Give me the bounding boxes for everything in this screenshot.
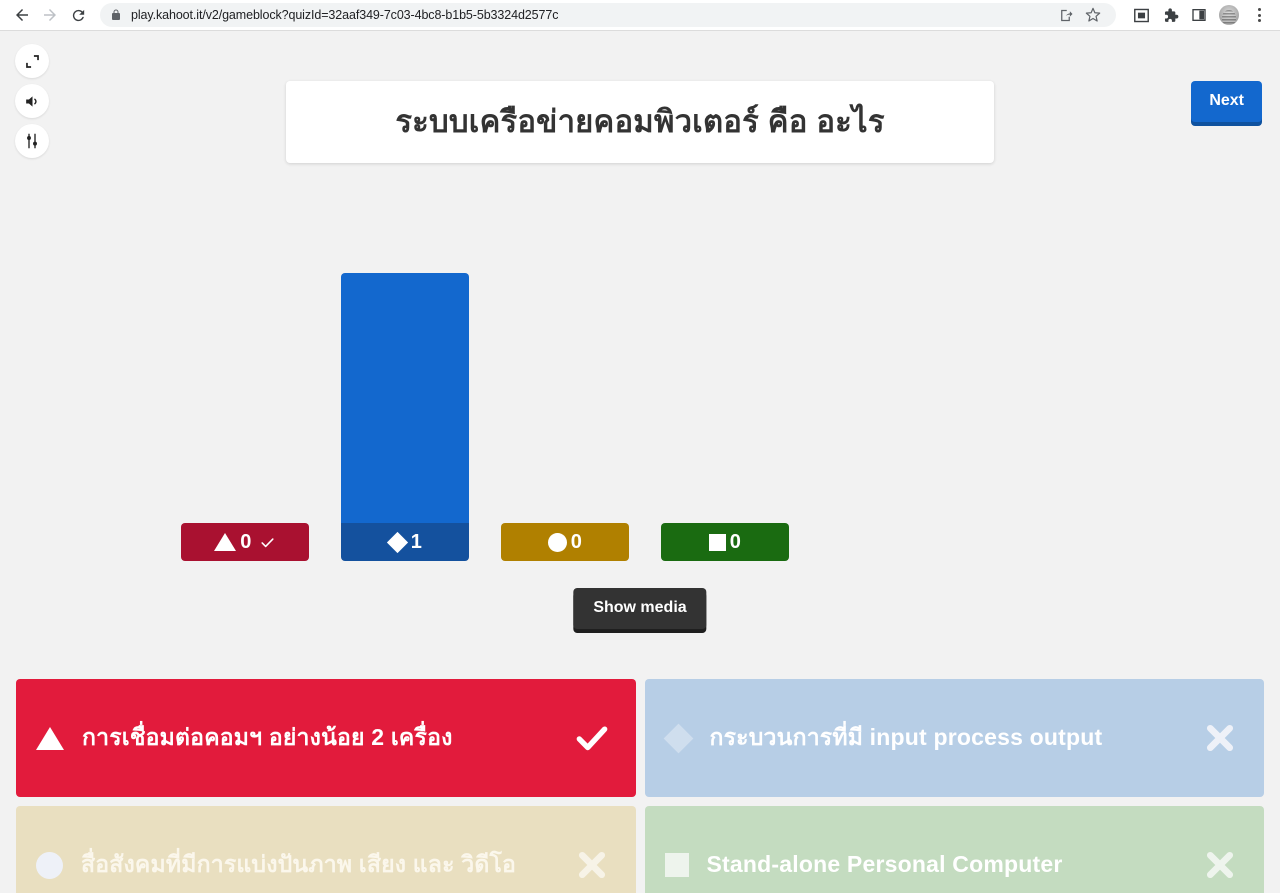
avatar[interactable] bbox=[1219, 5, 1239, 25]
reload-button[interactable] bbox=[64, 1, 92, 29]
back-button[interactable] bbox=[8, 1, 36, 29]
chart-bar-value: 0 bbox=[571, 531, 583, 554]
browser-menu-button[interactable] bbox=[1246, 2, 1272, 28]
lock-icon bbox=[110, 9, 122, 21]
address-bar[interactable]: play.kahoot.it/v2/gameblock?quizId=32aaf… bbox=[100, 3, 1116, 27]
triangle-icon bbox=[36, 727, 64, 750]
cast-icon bbox=[1133, 7, 1150, 24]
square-icon bbox=[665, 853, 689, 877]
forward-arrow-icon bbox=[41, 6, 59, 24]
chart-bar-foot: 1 bbox=[341, 523, 469, 561]
sliders-icon bbox=[23, 132, 41, 150]
share-icon bbox=[1058, 8, 1073, 23]
kahoot-gameblock-page: ระบบเครือข่ายคอมพิวเตอร์ คือ อะไร Next 0 bbox=[0, 31, 1280, 893]
answer-text: สื่อสังคมที่มีการแบ่งปันภาพ เสียง และ วิ… bbox=[81, 848, 552, 881]
chart-bar-diamond: 1 bbox=[341, 273, 469, 561]
answer-text: การเชื่อมต่อคอมฯ อย่างน้อย 2 เครื่อง bbox=[82, 721, 552, 754]
puzzle-icon bbox=[1162, 7, 1179, 24]
cross-icon bbox=[1198, 847, 1242, 883]
extensions-button[interactable] bbox=[1157, 2, 1183, 28]
volume-button[interactable] bbox=[15, 84, 49, 118]
triangle-icon bbox=[214, 533, 236, 551]
kebab-menu-icon bbox=[1258, 8, 1261, 22]
chart-bar-fill bbox=[341, 273, 469, 523]
diamond-icon bbox=[663, 723, 693, 753]
answer-option-diamond[interactable]: กระบวนการที่มี input process output bbox=[645, 679, 1265, 797]
fullscreen-icon bbox=[24, 53, 41, 70]
back-arrow-icon bbox=[13, 6, 31, 24]
url-text: play.kahoot.it/v2/gameblock?quizId=32aaf… bbox=[131, 8, 558, 22]
answer-option-square[interactable]: Stand-alone Personal Computer bbox=[645, 806, 1265, 893]
answer-option-circle[interactable]: สื่อสังคมที่มีการแบ่งปันภาพ เสียง และ วิ… bbox=[16, 806, 636, 893]
chart-bar-value: 0 bbox=[730, 531, 742, 554]
question-title-card: ระบบเครือข่ายคอมพิวเตอร์ คือ อะไร bbox=[286, 81, 994, 163]
answer-grid: การเชื่อมต่อคอมฯ อย่างน้อย 2 เครื่อง กระ… bbox=[16, 679, 1264, 893]
answer-text: กระบวนการที่มี input process output bbox=[710, 721, 1181, 754]
cross-icon bbox=[570, 847, 614, 883]
chart-bar-square: 0 bbox=[661, 523, 789, 561]
cross-icon bbox=[1198, 720, 1242, 756]
side-panel-button[interactable] bbox=[1186, 2, 1212, 28]
chart-bar-value: 0 bbox=[240, 531, 252, 554]
volume-icon bbox=[23, 92, 42, 111]
next-button[interactable]: Next bbox=[1191, 81, 1262, 122]
star-icon bbox=[1085, 7, 1101, 23]
chart-bar-foot: 0 bbox=[501, 523, 629, 561]
chart-bar-triangle: 0 bbox=[181, 523, 309, 561]
answer-distribution-chart: 0 1 0 bbox=[0, 191, 1280, 561]
check-icon bbox=[570, 719, 614, 757]
circle-icon bbox=[548, 533, 567, 552]
chart-bar-value: 1 bbox=[411, 531, 423, 554]
bookmark-button[interactable] bbox=[1080, 2, 1106, 28]
side-panel-icon bbox=[1191, 7, 1207, 23]
chart-bar-circle: 0 bbox=[501, 523, 629, 561]
circle-icon bbox=[36, 852, 63, 879]
answer-option-triangle[interactable]: การเชื่อมต่อคอมฯ อย่างน้อย 2 เครื่อง bbox=[16, 679, 636, 797]
diamond-icon bbox=[387, 531, 408, 552]
reload-icon bbox=[70, 7, 87, 24]
game-control-rail bbox=[15, 44, 49, 158]
square-icon bbox=[709, 534, 726, 551]
game-options-button[interactable] bbox=[15, 124, 49, 158]
share-button[interactable] bbox=[1052, 2, 1078, 28]
question-title: ระบบเครือข่ายคอมพิวเตอร์ คือ อะไร bbox=[395, 103, 884, 142]
browser-toolbar: play.kahoot.it/v2/gameblock?quizId=32aaf… bbox=[0, 0, 1280, 31]
show-media-button[interactable]: Show media bbox=[573, 588, 706, 629]
chart-bar-foot: 0 bbox=[661, 523, 789, 561]
chart-bar-foot: 0 bbox=[181, 523, 309, 561]
check-icon bbox=[259, 534, 276, 551]
answer-text: Stand-alone Personal Computer bbox=[707, 848, 1181, 881]
fullscreen-button[interactable] bbox=[15, 44, 49, 78]
forward-button[interactable] bbox=[36, 1, 64, 29]
cast-button[interactable] bbox=[1128, 2, 1154, 28]
